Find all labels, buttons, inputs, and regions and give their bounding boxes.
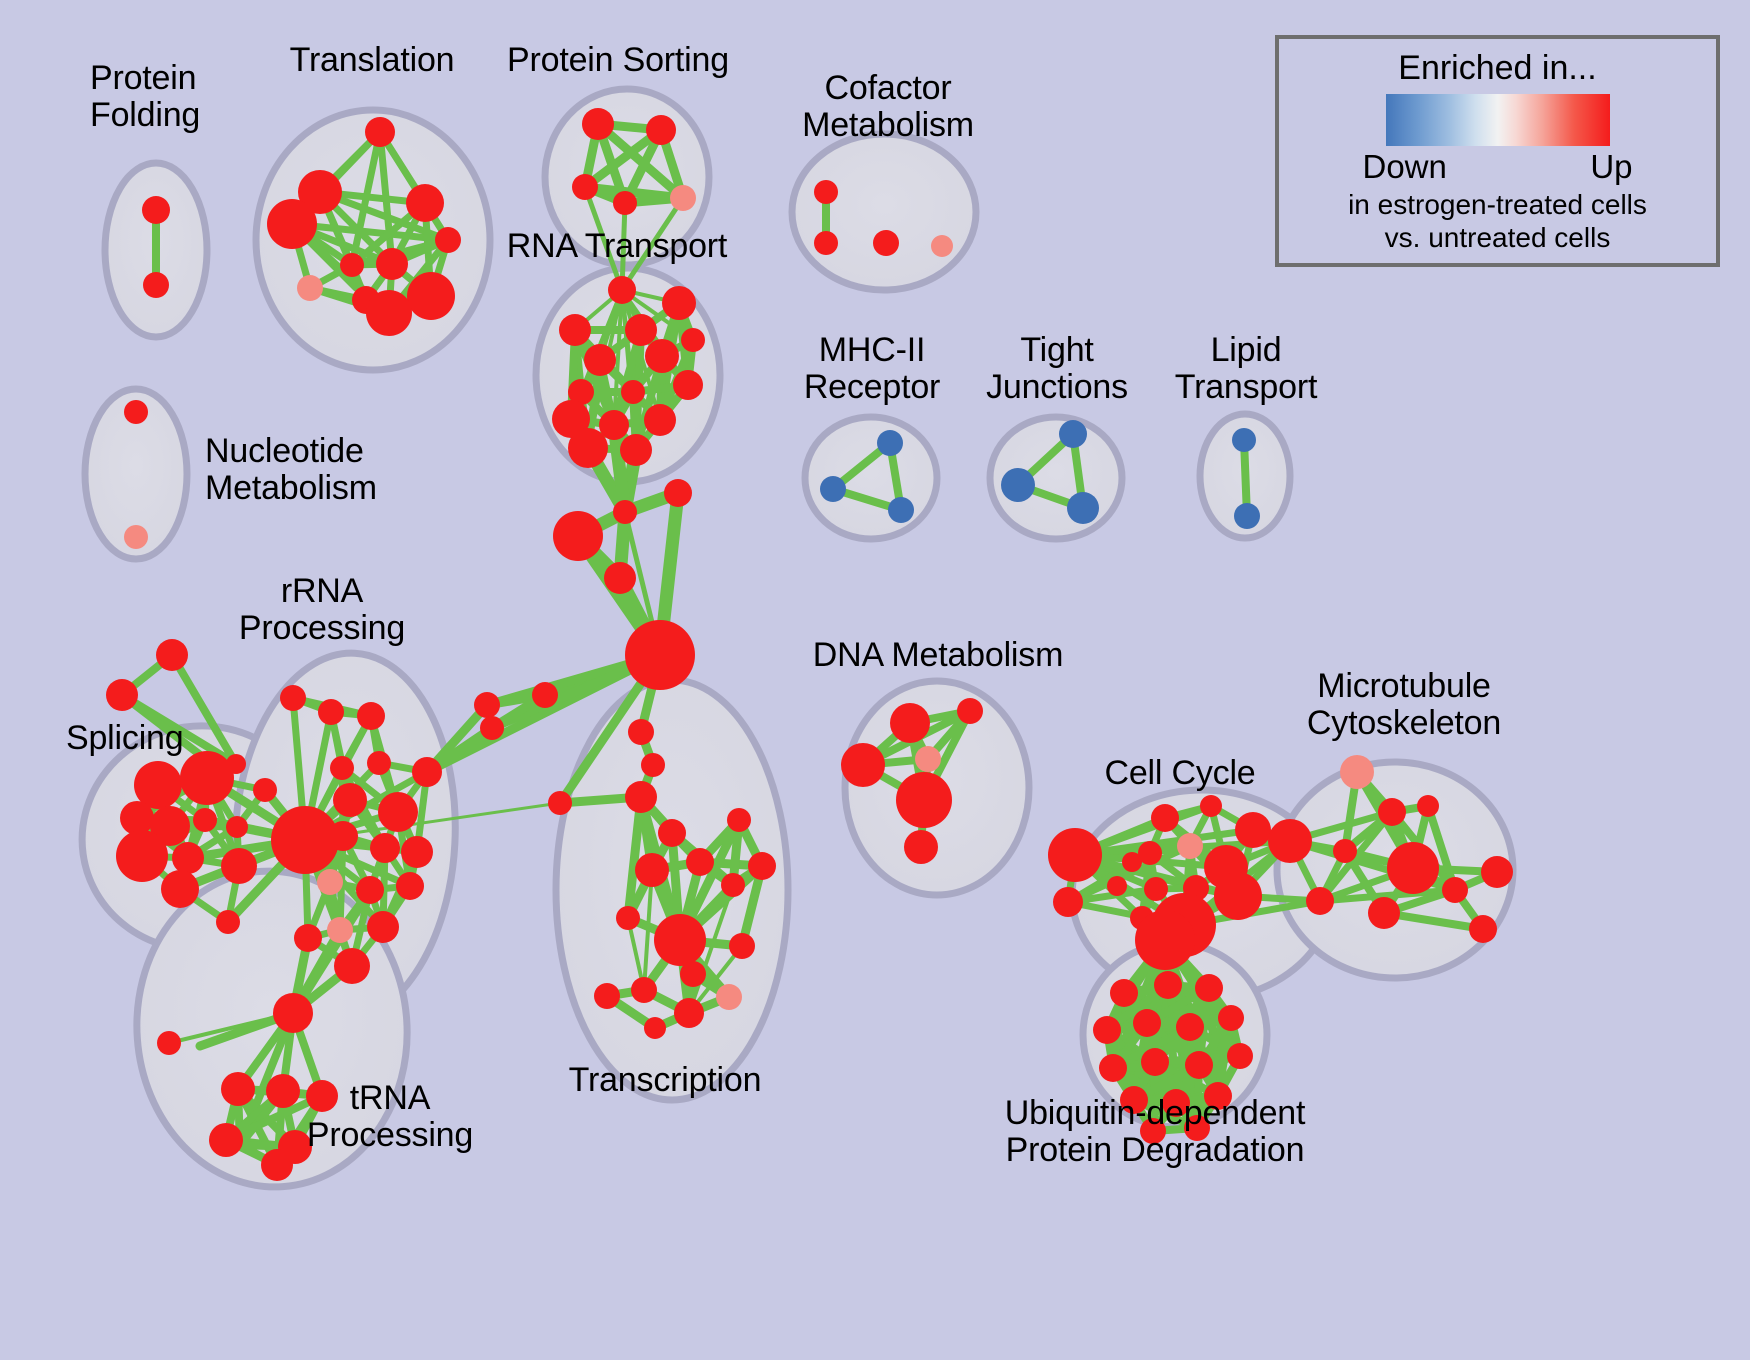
- legend-label-down: Down: [1363, 148, 1447, 186]
- legend-caption: in estrogen-treated cells vs. untreated …: [1348, 188, 1647, 254]
- cluster-label-translation: Translation: [290, 42, 455, 79]
- cluster-label-rna-transport: RNA Transport: [507, 228, 727, 265]
- legend-title: Enriched in...: [1398, 49, 1596, 88]
- legend-caption-line1: in estrogen-treated cells: [1348, 188, 1647, 221]
- cluster-label-transcription: Transcription: [569, 1062, 762, 1099]
- cluster-label-protein-folding: Protein Folding: [90, 60, 200, 133]
- cluster-label-nucleotide-metabolism: Nucleotide Metabolism: [205, 433, 377, 506]
- enrichment-map-figure: Protein Folding Translation Protein Sort…: [0, 0, 1750, 1360]
- hull-mhc-ii: [805, 417, 937, 539]
- legend-caption-line2: vs. untreated cells: [1348, 221, 1647, 254]
- cluster-label-dna-metabolism: DNA Metabolism: [813, 637, 1063, 674]
- hull-cofactor: [792, 134, 976, 290]
- legend-label-up: Up: [1590, 148, 1632, 186]
- cluster-label-ubiquitin-degradation: Ubiquitin-dependent Protein Degradation: [1005, 1095, 1306, 1168]
- cluster-label-lipid-transport: Lipid Transport: [1175, 332, 1317, 405]
- cluster-label-splicing: Splicing: [66, 720, 183, 757]
- nodes-central-spine: [412, 479, 695, 815]
- cluster-label-cofactor-metabolism: Cofactor Metabolism: [802, 70, 974, 143]
- cluster-label-cell-cycle: Cell Cycle: [1104, 755, 1255, 792]
- legend-endpoints: Down Up: [1363, 148, 1633, 186]
- cluster-label-protein-sorting: Protein Sorting: [507, 42, 729, 79]
- cluster-label-microtubule-cytoskeleton: Microtubule Cytoskeleton: [1307, 668, 1501, 741]
- cluster-label-mhc-ii-receptor: MHC-II Receptor: [804, 332, 940, 405]
- cluster-label-rrna-processing: rRNA Processing: [239, 573, 405, 646]
- legend-color-gradient-bar: [1386, 94, 1610, 146]
- cluster-label-trna-processing: tRNA Processing: [307, 1080, 473, 1153]
- legend-box: Enriched in... Down Up in estrogen-treat…: [1275, 35, 1720, 267]
- cluster-label-tight-junctions: Tight Junctions: [986, 332, 1128, 405]
